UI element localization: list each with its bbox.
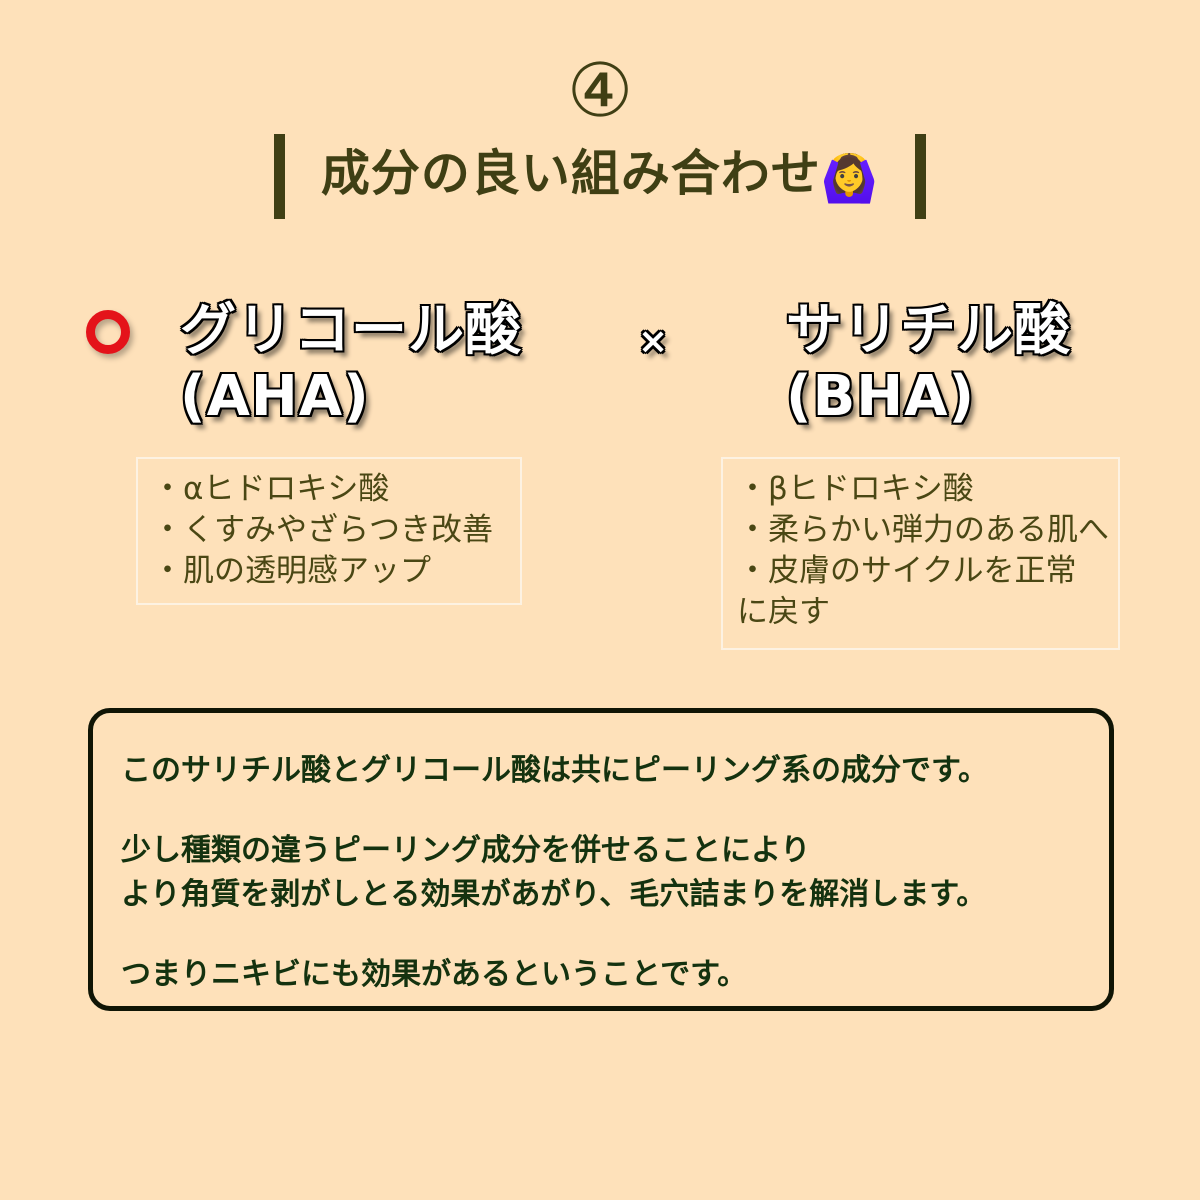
explanation-box: このサリチル酸とグリコール酸は共にピーリング系の成分です。 少し種類の違うピーリ… xyxy=(88,708,1114,1011)
list-item: ・βヒドロキシ酸 xyxy=(737,469,1106,510)
page-title: 成分の良い組み合わせ🙆‍♀️ xyxy=(321,144,879,208)
right-ingredient-heading: サリチル酸 (BHA) xyxy=(786,298,1146,430)
right-ingredient-benefits-box: ・βヒドロキシ酸 ・柔らかい弾力のある肌へ ・皮膚のサイクルを正常に戻す xyxy=(721,457,1120,650)
explanation-line-2: 少し種類の違うピーリング成分を併せることにより xyxy=(121,829,1085,873)
combination-operator-icon: × xyxy=(638,320,668,364)
right-ingredient-abbreviation: (BHA) xyxy=(786,364,1146,430)
explanation-spacer xyxy=(121,793,1085,829)
left-ingredient-heading: グリコール酸 (AHA) xyxy=(180,298,540,430)
list-item: ・皮膚のサイクルを正常に戻す xyxy=(737,551,1106,633)
title-right-bar-icon xyxy=(915,134,926,219)
title-left-bar-icon xyxy=(274,134,285,219)
list-item: ・柔らかい弾力のある肌へ xyxy=(737,510,1106,551)
list-item: ・αヒドロキシ酸 xyxy=(152,469,508,510)
left-ingredient-name: グリコール酸 xyxy=(180,298,540,364)
title-row: 成分の良い組み合わせ🙆‍♀️ xyxy=(0,128,1200,224)
explanation-line-4: つまりニキビにも効果があるということです。 xyxy=(121,953,1085,997)
left-ingredient-abbreviation: (AHA) xyxy=(180,364,540,430)
right-ingredient-name: サリチル酸 xyxy=(786,298,1146,364)
header-section: ④ 成分の良い組み合わせ🙆‍♀️ xyxy=(0,0,1200,250)
list-item: ・肌の透明感アップ xyxy=(152,551,508,592)
section-number: ④ xyxy=(0,48,1200,134)
page-title-text: 成分の良い組み合わせ xyxy=(321,145,821,202)
explanation-line-3: より角質を剥がしとる効果があがり、毛穴詰まりを解消します。 xyxy=(121,873,1085,917)
woman-gesturing-ok-emoji: 🙆‍♀️ xyxy=(821,151,879,205)
explanation-line-1: このサリチル酸とグリコール酸は共にピーリング系の成分です。 xyxy=(121,749,1085,793)
red-circle-icon xyxy=(86,310,130,354)
explanation-spacer xyxy=(121,917,1085,953)
list-item: ・くすみやざらつき改善 xyxy=(152,510,508,551)
left-ingredient-benefits-box: ・αヒドロキシ酸 ・くすみやざらつき改善 ・肌の透明感アップ xyxy=(136,457,522,605)
